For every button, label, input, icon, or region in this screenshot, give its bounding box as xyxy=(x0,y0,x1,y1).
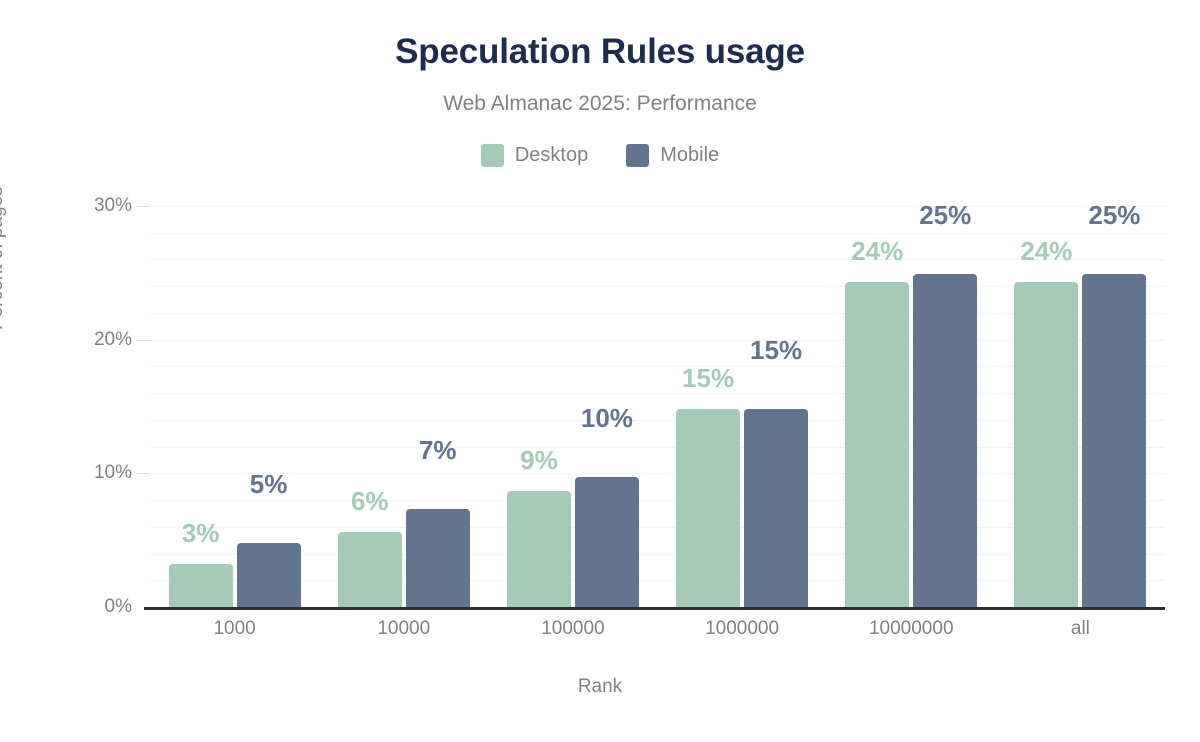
bar-mobile-100000[interactable] xyxy=(575,477,639,607)
bar-label-mobile-1000: 5% xyxy=(250,471,288,497)
chart-subtitle: Web Almanac 2025: Performance xyxy=(0,90,1200,118)
bar-label-mobile-10000000: 25% xyxy=(919,202,971,228)
plot-area: 0%10%20%30% 3%5%6%7%9%10%15%15%24%25%24%… xyxy=(150,206,1165,607)
legend-item-mobile[interactable]: Mobile xyxy=(626,142,719,168)
gridline xyxy=(150,554,1165,555)
bar-label-desktop-10000000: 24% xyxy=(851,238,903,264)
bar-desktop-all[interactable] xyxy=(1014,282,1078,607)
y-tick-label: 30% xyxy=(40,196,132,215)
x-axis-line xyxy=(144,607,1165,610)
bar-mobile-10000000[interactable] xyxy=(913,274,977,607)
bar-label-desktop-all: 24% xyxy=(1020,238,1072,264)
gridline xyxy=(150,286,1165,287)
bar-desktop-1000000[interactable] xyxy=(676,409,740,607)
legend-label-mobile: Mobile xyxy=(660,142,719,168)
x-tick-label-1000000: 1000000 xyxy=(705,618,779,640)
bar-desktop-1000[interactable] xyxy=(169,564,233,607)
gridline xyxy=(150,447,1165,448)
gridline xyxy=(150,313,1165,314)
gridline xyxy=(150,420,1165,421)
x-tick-label-all: all xyxy=(1071,618,1090,640)
x-axis-title: Rank xyxy=(0,676,1200,698)
legend-label-desktop: Desktop xyxy=(515,142,588,168)
gridline xyxy=(150,233,1165,234)
x-tick-label-10000: 10000 xyxy=(377,618,430,640)
y-tick-label: 0% xyxy=(40,597,132,616)
bar-mobile-10000[interactable] xyxy=(406,509,470,607)
y-tick-mark xyxy=(136,206,149,207)
bar-label-mobile-1000000: 15% xyxy=(750,337,802,363)
y-axis-title: Percent of pages xyxy=(0,186,8,330)
bar-label-desktop-1000000: 15% xyxy=(682,365,734,391)
chart-legend: Desktop Mobile xyxy=(0,142,1200,168)
gridline xyxy=(150,259,1165,260)
gridline xyxy=(150,500,1165,501)
gridline xyxy=(150,366,1165,367)
y-tick-mark xyxy=(136,340,149,341)
bar-desktop-10000[interactable] xyxy=(338,532,402,607)
bar-label-mobile-10000: 7% xyxy=(419,437,457,463)
bar-mobile-1000000[interactable] xyxy=(744,409,808,607)
bar-label-mobile-all: 25% xyxy=(1088,202,1140,228)
y-tick-label: 20% xyxy=(40,330,132,349)
x-tick-label-100000: 100000 xyxy=(541,618,604,640)
chart-container: Speculation Rules usage Web Almanac 2025… xyxy=(0,0,1200,742)
chart-title: Speculation Rules usage xyxy=(0,30,1200,74)
y-tick-label: 10% xyxy=(40,463,132,482)
gridline xyxy=(150,527,1165,528)
gridline xyxy=(150,206,1165,207)
bar-label-mobile-100000: 10% xyxy=(581,405,633,431)
gridline xyxy=(150,473,1165,474)
legend-swatch-mobile xyxy=(626,144,649,167)
bar-mobile-1000[interactable] xyxy=(237,543,301,607)
bar-desktop-10000000[interactable] xyxy=(845,282,909,607)
gridline xyxy=(150,340,1165,341)
gridline xyxy=(150,580,1165,581)
x-tick-label-1000: 1000 xyxy=(213,618,255,640)
legend-item-desktop[interactable]: Desktop xyxy=(481,142,588,168)
bar-desktop-100000[interactable] xyxy=(507,491,571,607)
y-tick-mark xyxy=(136,473,149,474)
gridline xyxy=(150,393,1165,394)
legend-swatch-desktop xyxy=(481,144,504,167)
x-tick-label-10000000: 10000000 xyxy=(869,618,954,640)
bar-label-desktop-1000: 3% xyxy=(182,520,220,546)
bar-label-desktop-100000: 9% xyxy=(520,447,558,473)
bar-label-desktop-10000: 6% xyxy=(351,488,389,514)
bar-mobile-all[interactable] xyxy=(1082,274,1146,607)
